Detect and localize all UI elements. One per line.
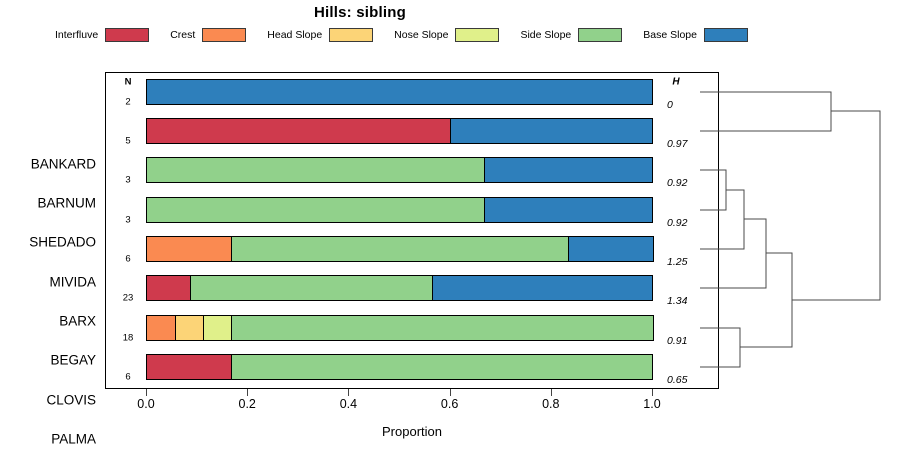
h-column-header: H bbox=[672, 77, 679, 88]
chart-root: Hills: sibling InterfluveCrestHead Slope… bbox=[0, 0, 900, 460]
h-value: 0.65 bbox=[667, 374, 687, 386]
bar-segment-interfluve[interactable] bbox=[146, 354, 232, 380]
h-value: 1.25 bbox=[667, 256, 687, 268]
bar-segment-base-slope[interactable] bbox=[484, 157, 654, 183]
bar-row-palma bbox=[146, 354, 652, 380]
bar-segment-interfluve[interactable] bbox=[146, 275, 191, 301]
x-axis-tick-label: 0.6 bbox=[441, 397, 458, 411]
x-axis-tick-label: 0.4 bbox=[340, 397, 357, 411]
bar-row-mivida bbox=[146, 197, 652, 223]
x-axis-tick-label: 1.0 bbox=[643, 397, 660, 411]
bar-segment-side-slope[interactable] bbox=[146, 197, 485, 223]
h-value: 1.34 bbox=[667, 295, 687, 307]
n-value: 2 bbox=[125, 97, 130, 108]
bar-segment-nose-slope[interactable] bbox=[203, 315, 233, 341]
bar-row-bankard bbox=[146, 79, 652, 105]
bar-segment-crest[interactable] bbox=[146, 315, 176, 341]
bar-row-begay bbox=[146, 275, 652, 301]
bar-segment-crest[interactable] bbox=[146, 236, 232, 262]
x-axis-tick bbox=[348, 389, 349, 396]
bar-segment-side-slope[interactable] bbox=[190, 275, 433, 301]
h-value: 0.91 bbox=[667, 335, 687, 347]
x-axis-title: Proportion bbox=[105, 424, 719, 439]
n-value: 23 bbox=[123, 293, 134, 304]
dendro-node-clovis-palma bbox=[700, 328, 740, 367]
x-axis-tick bbox=[652, 389, 653, 396]
x-axis-tick-label: 0.0 bbox=[137, 397, 154, 411]
n-value: 5 bbox=[125, 136, 130, 147]
n-value: 3 bbox=[125, 175, 130, 186]
dendro-node-shedado-mivida bbox=[700, 170, 726, 210]
h-value: 0 bbox=[667, 99, 673, 111]
bar-segment-side-slope[interactable] bbox=[146, 157, 485, 183]
dendrogram bbox=[700, 60, 900, 400]
x-axis-tick-label: 0.8 bbox=[542, 397, 559, 411]
bar-row-clovis bbox=[146, 315, 652, 341]
x-axis-tick bbox=[551, 389, 552, 396]
bar-row-shedado bbox=[146, 157, 652, 183]
dendro-node-shedado-mivida-barx bbox=[700, 190, 744, 249]
bar-segment-side-slope[interactable] bbox=[231, 236, 570, 262]
x-axis-tick bbox=[450, 389, 451, 396]
h-value: 0.92 bbox=[667, 177, 687, 189]
n-column-header: N bbox=[125, 77, 132, 88]
bar-segment-base-slope[interactable] bbox=[450, 118, 654, 144]
n-value: 18 bbox=[123, 333, 134, 344]
bar-segment-base-slope[interactable] bbox=[568, 236, 654, 262]
x-axis-tick-label: 0.2 bbox=[238, 397, 255, 411]
dendro-node-bankard-barnum bbox=[700, 92, 831, 131]
n-value: 6 bbox=[125, 254, 130, 265]
bar-segment-base-slope[interactable] bbox=[484, 197, 654, 223]
bar-row-barnum bbox=[146, 118, 652, 144]
dendro-node-root bbox=[792, 111, 880, 300]
n-value: 6 bbox=[125, 372, 130, 383]
bar-row-barx bbox=[146, 236, 652, 262]
dendro-node-plus-begay bbox=[700, 219, 766, 288]
h-value: 0.92 bbox=[667, 217, 687, 229]
h-value: 0.97 bbox=[667, 138, 687, 150]
n-value: 3 bbox=[125, 215, 130, 226]
bar-segment-base-slope[interactable] bbox=[146, 79, 653, 105]
bar-segment-base-slope[interactable] bbox=[432, 275, 654, 301]
x-axis-tick bbox=[247, 389, 248, 396]
x-axis-tick bbox=[146, 389, 147, 396]
bar-segment-head-slope[interactable] bbox=[174, 315, 204, 341]
bar-segment-interfluve[interactable] bbox=[146, 118, 451, 144]
bar-segment-side-slope[interactable] bbox=[231, 354, 654, 380]
bar-segment-side-slope[interactable] bbox=[231, 315, 654, 341]
